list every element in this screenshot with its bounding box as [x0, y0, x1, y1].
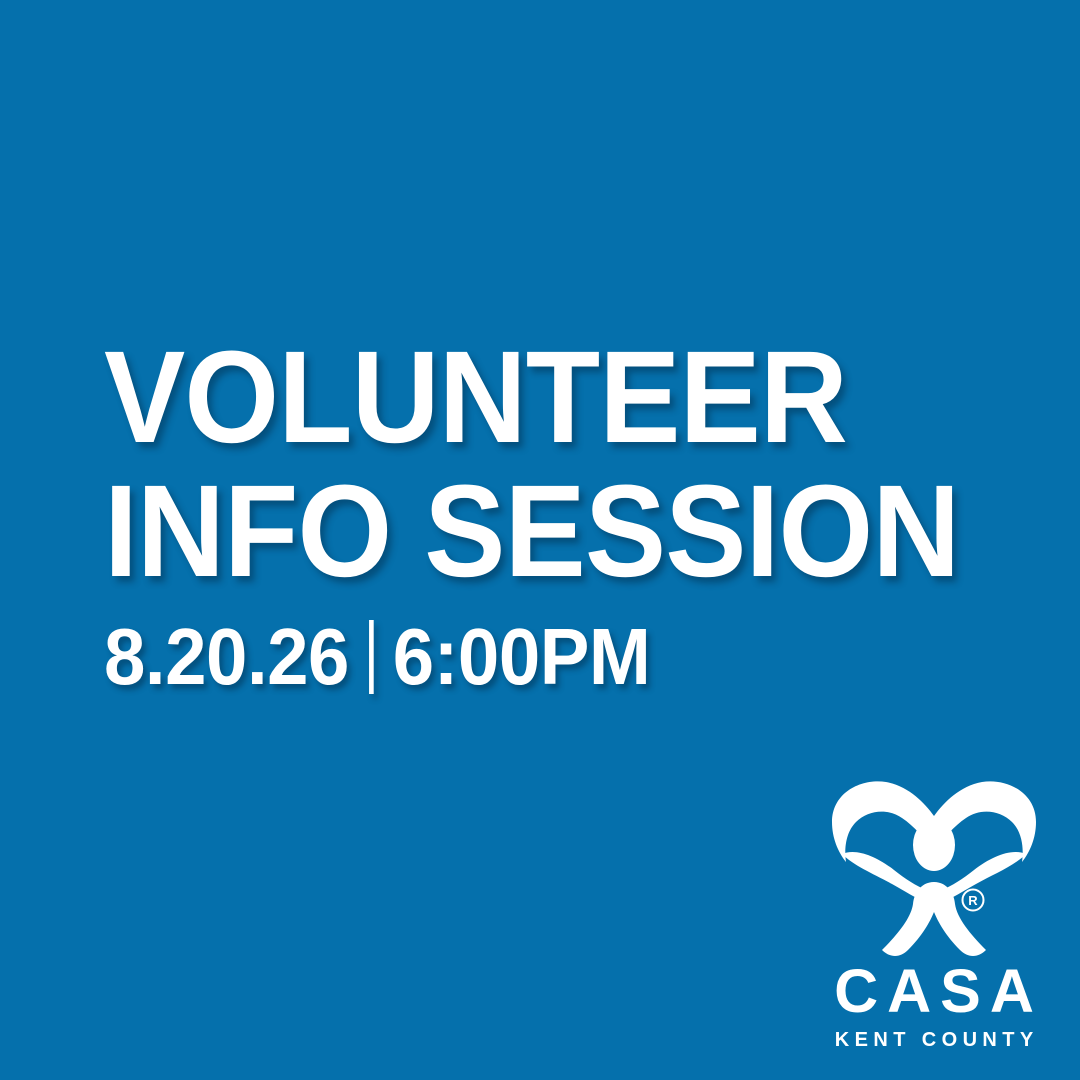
headline-line-1: VOLUNTEER — [104, 332, 904, 462]
logo-subwordmark: KENT COUNTY — [818, 1030, 1050, 1050]
event-poster: VOLUNTEER INFO SESSION 8.20.26 6:00PM R … — [0, 0, 1080, 1080]
casa-kent-county-logo: R CASA KENT COUNTY — [818, 778, 1050, 1050]
logo-wordmark: CASA — [818, 961, 1050, 1022]
event-date: 8.20.26 — [104, 617, 349, 697]
event-datetime: 8.20.26 6:00PM — [104, 617, 904, 697]
event-time: 6:00PM — [393, 617, 651, 697]
headline-line-2: INFO SESSION — [104, 466, 904, 596]
casa-child-heart-icon: R — [818, 778, 1050, 958]
svg-text:R: R — [968, 893, 978, 908]
headline-block: VOLUNTEER INFO SESSION 8.20.26 6:00PM — [104, 332, 964, 697]
registered-trademark-icon: R — [963, 890, 984, 911]
datetime-separator-icon — [369, 620, 374, 694]
